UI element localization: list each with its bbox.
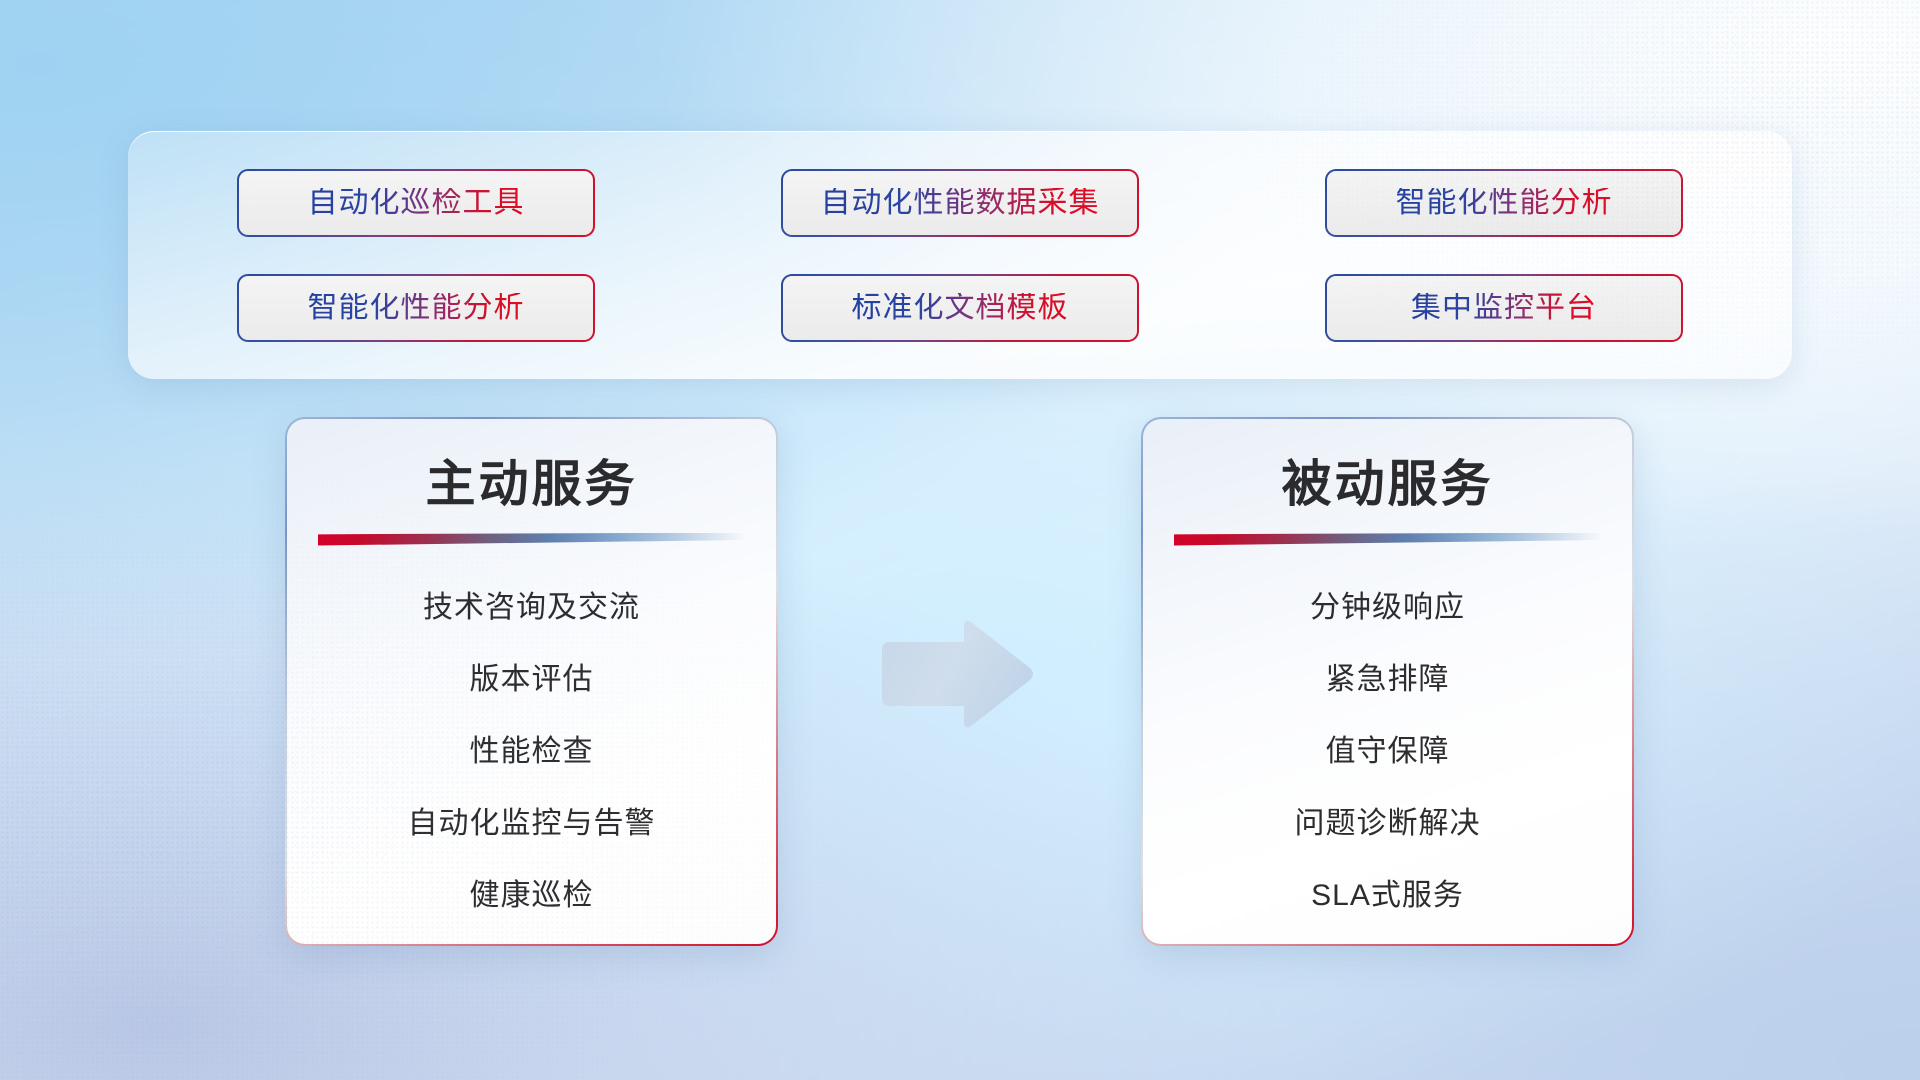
capability-tag-inner: 自动化巡检工具 xyxy=(239,171,593,235)
list-item: SLA式服务 xyxy=(1311,860,1464,932)
title-divider-bar xyxy=(318,533,746,546)
list-item: 性能检查 xyxy=(470,716,594,788)
title-divider xyxy=(318,532,746,546)
list-item: 紧急排障 xyxy=(1326,644,1450,716)
service-card-body: 主动服务 技术咨询及交流 版本评估 性能检查 自动化监控与告警 健康巡检 xyxy=(287,419,776,944)
title-divider xyxy=(1174,532,1602,546)
capability-tag-label: 智能化性能分析 xyxy=(308,293,525,323)
capability-tag-inner: 自动化性能数据采集 xyxy=(783,171,1137,235)
list-item: 问题诊断解决 xyxy=(1295,788,1481,860)
service-card-body: 被动服务 分钟级响应 紧急排障 值守保障 问题诊断解决 SLA式服务 xyxy=(1143,419,1632,944)
capability-tag-5[interactable]: 标准化文档模板 xyxy=(781,274,1139,342)
capability-tag-inner: 标准化文档模板 xyxy=(783,276,1137,340)
arrow-right-icon xyxy=(876,616,1036,733)
capabilities-panel: 自动化巡检工具 自动化性能数据采集 智能化性能分析 智能化性能分析 标准化文档模… xyxy=(128,131,1792,379)
list-item: 值守保障 xyxy=(1326,716,1450,788)
service-card-reactive[interactable]: 被动服务 分钟级响应 紧急排障 值守保障 问题诊断解决 SLA式服务 xyxy=(1141,417,1634,946)
list-item: 分钟级响应 xyxy=(1310,572,1465,644)
slide-canvas: 自动化巡检工具 自动化性能数据采集 智能化性能分析 智能化性能分析 标准化文档模… xyxy=(0,0,1920,1080)
capability-tag-4[interactable]: 智能化性能分析 xyxy=(237,274,595,342)
list-item: 技术咨询及交流 xyxy=(423,572,640,644)
service-item-list: 技术咨询及交流 版本评估 性能检查 自动化监控与告警 健康巡检 xyxy=(287,564,776,932)
capability-tag-1[interactable]: 自动化巡检工具 xyxy=(237,169,595,237)
list-item: 健康巡检 xyxy=(470,860,594,932)
capability-tag-label: 集中监控平台 xyxy=(1411,293,1597,323)
capability-tag-label: 自动化巡检工具 xyxy=(308,188,525,218)
title-divider-bar xyxy=(1174,533,1602,546)
capability-tag-6[interactable]: 集中监控平台 xyxy=(1325,274,1683,342)
service-card-title: 主动服务 xyxy=(426,457,638,512)
capability-tag-3[interactable]: 智能化性能分析 xyxy=(1325,169,1683,237)
service-item-list: 分钟级响应 紧急排障 值守保障 问题诊断解决 SLA式服务 xyxy=(1143,564,1632,932)
list-item: 自动化监控与告警 xyxy=(408,788,656,860)
capability-tag-label: 标准化文档模板 xyxy=(852,293,1069,323)
capability-tag-2[interactable]: 自动化性能数据采集 xyxy=(781,169,1139,237)
capability-tag-inner: 智能化性能分析 xyxy=(1327,171,1681,235)
capability-tag-inner: 智能化性能分析 xyxy=(239,276,593,340)
capability-tag-label: 自动化性能数据采集 xyxy=(821,188,1100,218)
service-card-proactive[interactable]: 主动服务 技术咨询及交流 版本评估 性能检查 自动化监控与告警 健康巡检 xyxy=(285,417,778,946)
capability-tag-label: 智能化性能分析 xyxy=(1396,188,1613,218)
capability-tag-inner: 集中监控平台 xyxy=(1327,276,1681,340)
service-card-title: 被动服务 xyxy=(1282,457,1494,512)
list-item: 版本评估 xyxy=(470,644,594,716)
